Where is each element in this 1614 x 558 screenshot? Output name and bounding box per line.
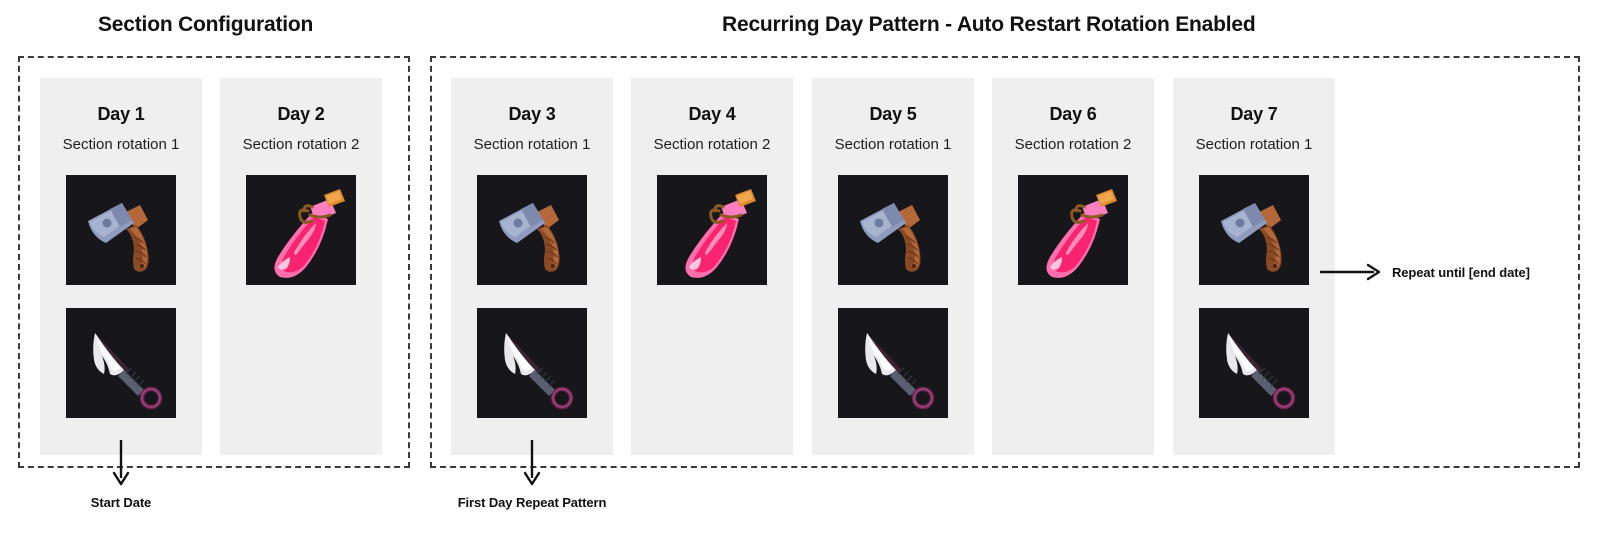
day-card-subtitle: Section rotation 1 <box>835 136 952 153</box>
kunai-icon[interactable] <box>66 308 176 418</box>
start-date-annotation: Start Date <box>40 440 202 510</box>
day-card-1[interactable]: Day 1 Section rotation 1 <box>40 78 202 455</box>
day-card-7[interactable]: Day 7 Section rotation 1 <box>1173 78 1335 455</box>
day-card-4[interactable]: Day 4 Section rotation 2 <box>631 78 793 455</box>
day-card-title: Day 4 <box>688 104 735 125</box>
day-card-items <box>1018 175 1128 285</box>
axe-icon[interactable] <box>1199 175 1309 285</box>
axe-icon[interactable] <box>477 175 587 285</box>
day-card-title: Day 5 <box>869 104 916 125</box>
down-arrow-icon <box>109 440 133 488</box>
repeat-until-annotation: Repeat until [end date] <box>1320 262 1530 282</box>
day-card-subtitle: Section rotation 2 <box>654 136 771 153</box>
day-card-title: Day 3 <box>508 104 555 125</box>
potion-icon[interactable] <box>657 175 767 285</box>
day-card-items <box>838 175 948 418</box>
day-card-5[interactable]: Day 5 Section rotation 1 <box>812 78 974 455</box>
first-day-repeat-annotation: First Day Repeat Pattern <box>451 440 613 510</box>
day-card-6[interactable]: Day 6 Section rotation 2 <box>992 78 1154 455</box>
day-card-title: Day 2 <box>277 104 324 125</box>
day-card-title: Day 6 <box>1049 104 1096 125</box>
potion-icon[interactable] <box>246 175 356 285</box>
first-day-repeat-label: First Day Repeat Pattern <box>458 495 607 510</box>
potion-icon[interactable] <box>1018 175 1128 285</box>
day-card-subtitle: Section rotation 2 <box>243 136 360 153</box>
day-card-title: Day 7 <box>1230 104 1277 125</box>
page-title-section-configuration: Section Configuration <box>98 13 313 37</box>
day-card-title: Day 1 <box>97 104 144 125</box>
day-card-subtitle: Section rotation 1 <box>1196 136 1313 153</box>
axe-icon[interactable] <box>66 175 176 285</box>
day-card-subtitle: Section rotation 1 <box>63 136 180 153</box>
day-card-items <box>246 175 356 285</box>
right-arrow-icon <box>1320 262 1382 282</box>
day-card-subtitle: Section rotation 1 <box>474 136 591 153</box>
day-card-2[interactable]: Day 2 Section rotation 2 <box>220 78 382 455</box>
day-card-items <box>477 175 587 418</box>
day-card-items <box>1199 175 1309 418</box>
kunai-icon[interactable] <box>477 308 587 418</box>
kunai-icon[interactable] <box>1199 308 1309 418</box>
repeat-until-label: Repeat until [end date] <box>1392 265 1530 280</box>
axe-icon[interactable] <box>838 175 948 285</box>
start-date-label: Start Date <box>91 495 151 510</box>
day-card-subtitle: Section rotation 2 <box>1015 136 1132 153</box>
day-card-items <box>66 175 176 418</box>
day-card-3[interactable]: Day 3 Section rotation 1 <box>451 78 613 455</box>
page-title-recurring-day-pattern: Recurring Day Pattern - Auto Restart Rot… <box>722 13 1256 37</box>
kunai-icon[interactable] <box>838 308 948 418</box>
day-card-items <box>657 175 767 285</box>
down-arrow-icon <box>520 440 544 488</box>
